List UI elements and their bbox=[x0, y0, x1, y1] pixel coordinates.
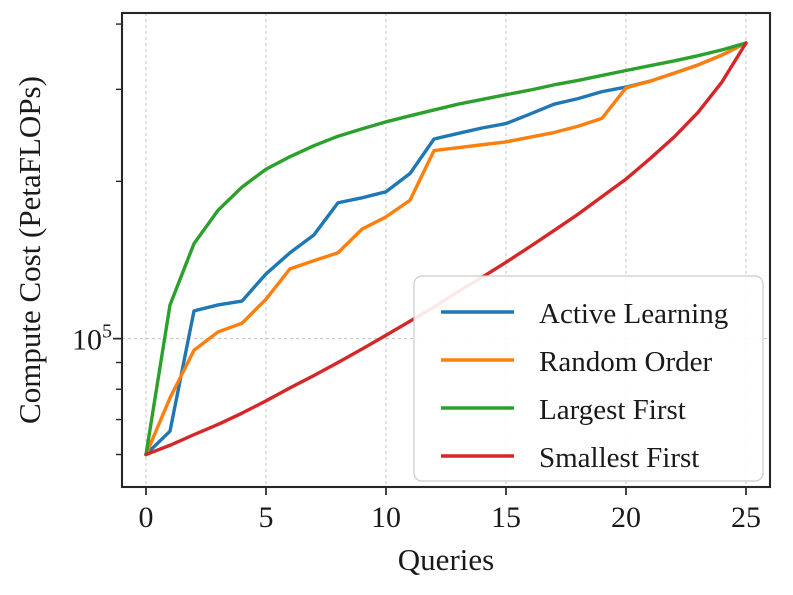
figure-canvas: 0510152025 105 Queries Compute Cost (Pet… bbox=[0, 0, 793, 595]
legend-label-active-learning: Active Learning bbox=[539, 298, 728, 330]
x-axis-title: Queries bbox=[398, 542, 494, 577]
x-tick-label: 10 bbox=[371, 501, 401, 534]
y-tick-mantissa: 10 bbox=[72, 324, 102, 357]
x-tick-label: 15 bbox=[491, 501, 521, 534]
chart-legend[interactable]: Active LearningRandom OrderLargest First… bbox=[414, 276, 763, 481]
legend-label-largest-first: Largest First bbox=[539, 394, 686, 426]
svg-text:105: 105 bbox=[72, 321, 112, 357]
legend-label-random-order: Random Order bbox=[539, 346, 712, 378]
x-tick-label: 25 bbox=[731, 501, 761, 534]
y-axis-title: Compute Cost (PetaFLOPs) bbox=[12, 76, 47, 424]
x-axis-title-text: Queries bbox=[398, 542, 494, 577]
x-tick-layer: 0510152025 bbox=[139, 487, 762, 534]
y-tick-layer bbox=[113, 24, 122, 454]
y-axis-title-text: Compute Cost (PetaFLOPs) bbox=[12, 76, 47, 424]
y-axis-tick-label: 105 bbox=[72, 321, 112, 357]
x-tick-label: 5 bbox=[259, 501, 274, 534]
y-tick-exponent: 5 bbox=[102, 321, 112, 343]
x-tick-label: 20 bbox=[611, 501, 641, 534]
x-tick-label: 0 bbox=[139, 501, 154, 534]
legend-label-smallest-first: Smallest First bbox=[539, 442, 699, 474]
line-chart: 0510152025 105 Queries Compute Cost (Pet… bbox=[0, 0, 793, 595]
